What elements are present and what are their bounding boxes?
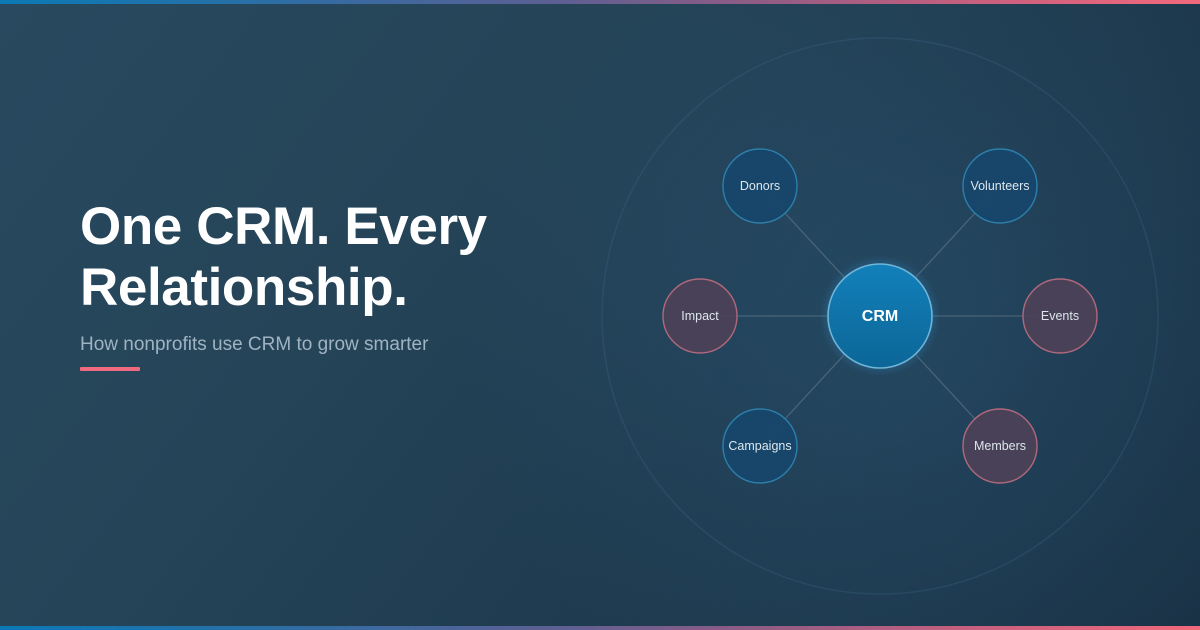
node-label-events: Events [1041, 309, 1079, 323]
node-donors[interactable]: Donors [723, 149, 797, 223]
node-campaigns[interactable]: Campaigns [723, 409, 797, 483]
node-volunteers[interactable]: Volunteers [963, 149, 1037, 223]
node-label-donors: Donors [740, 179, 780, 193]
node-label-volunteers: Volunteers [970, 179, 1029, 193]
center-node-label: CRM [862, 308, 898, 325]
node-members[interactable]: Members [963, 409, 1037, 483]
node-impact[interactable]: Impact [663, 279, 737, 353]
crm-hub-diagram: DonorsVolunteersEventsMembersCampaignsIm… [0, 0, 1200, 630]
slide-canvas: One CRM. Every Relationship. How nonprof… [0, 0, 1200, 630]
node-events[interactable]: Events [1023, 279, 1097, 353]
node-label-members: Members [974, 439, 1026, 453]
center-node[interactable]: CRM [828, 264, 932, 368]
node-label-impact: Impact [681, 309, 719, 323]
node-label-campaigns: Campaigns [728, 439, 791, 453]
bottom-gradient-bar [0, 626, 1200, 630]
